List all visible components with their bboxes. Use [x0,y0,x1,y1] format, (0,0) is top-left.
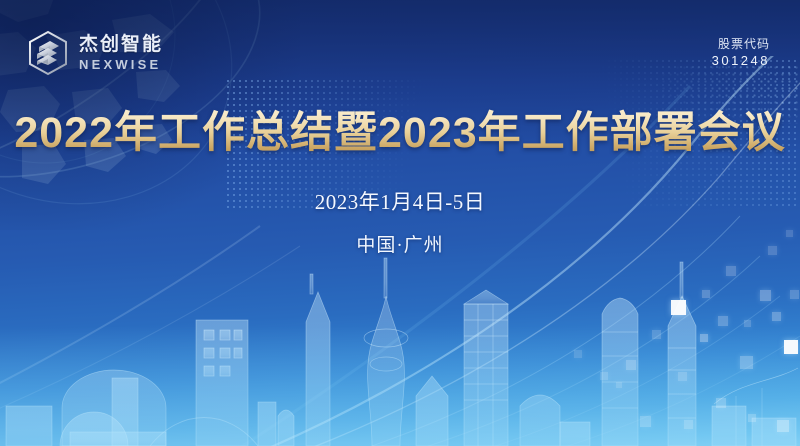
nexwise-hexagon-logo-icon [26,30,70,76]
event-date: 2023年1月4日-5日 [0,186,800,216]
brand-logo[interactable]: 杰创智能 NEXWISE [26,30,163,76]
bottom-haze-overlay [0,326,800,446]
brand-name-cn: 杰创智能 [79,35,163,54]
conference-poster: 杰创智能 NEXWISE 股票代码 301248 2022年工作总结暨2023年… [0,0,800,446]
event-location: 中国·广州 [0,230,800,257]
brand-name-en: NEXWISE [79,58,163,71]
stock-code-label: 股票代码 [712,36,770,52]
stock-code-value: 301248 [712,52,770,70]
stock-code-block: 股票代码 301248 [712,36,770,70]
page-title: 2022年工作总结暨2023年工作部署会议 [0,98,800,160]
